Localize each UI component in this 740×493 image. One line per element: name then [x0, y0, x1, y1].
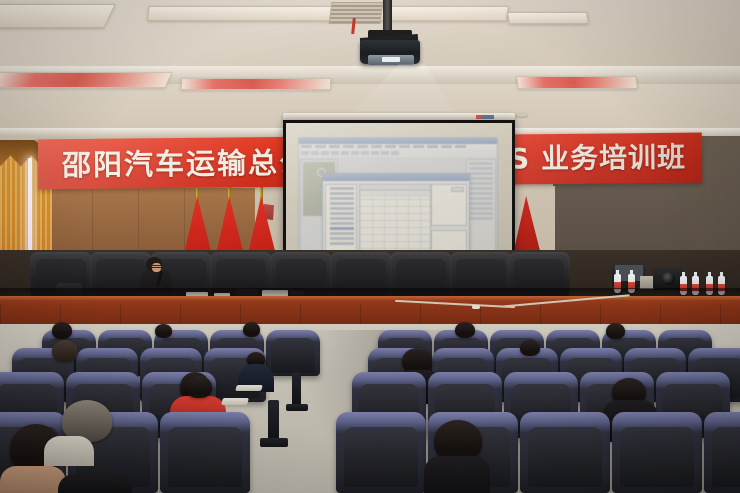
- dialog-titlebar: [323, 174, 469, 181]
- data-grid-header: [360, 185, 430, 191]
- projected-app-toolbar: [299, 150, 497, 157]
- attendee-head: [52, 322, 72, 339]
- smoke-detector-icon: [515, 112, 528, 117]
- dialog-data-grid: [359, 184, 431, 252]
- cable-knot: [472, 305, 480, 309]
- attendee-shoulders: [0, 466, 66, 493]
- ceiling-light-panel: [181, 78, 332, 90]
- glasses-icon: [151, 265, 162, 268]
- dialog-preview-upper: [431, 184, 467, 226]
- stage-desk-panels: [0, 304, 740, 324]
- auditorium-seat: [612, 412, 702, 493]
- camera-lens-icon: [662, 272, 675, 285]
- projector-badge: [382, 57, 400, 62]
- seat-leg: [292, 372, 301, 406]
- dialog-side-button: [451, 187, 464, 192]
- attendee-head: [520, 340, 540, 356]
- auditorium-scene: 邵阳汽车运输总公 PS 业务培训班: [0, 0, 740, 493]
- ceiling-light-panel: [147, 6, 509, 21]
- attendee-head: [186, 376, 212, 398]
- seat-leg: [268, 400, 279, 442]
- attendee-head: [606, 323, 625, 339]
- attendee-head: [155, 324, 172, 338]
- attendee-shoulders: [58, 474, 132, 493]
- ceiling-light-panel: [507, 12, 589, 24]
- data-grid-row: [360, 192, 430, 197]
- auditorium-seat: [704, 412, 740, 493]
- attendee-shoulders: [44, 436, 94, 466]
- ceiling-light-panel: [516, 76, 638, 89]
- stage-desk-edge: [0, 296, 740, 300]
- attendee-head: [52, 340, 78, 362]
- auditorium-seat: [266, 330, 320, 376]
- seat-leg: [286, 404, 308, 411]
- ceiling-light-panel: [0, 4, 116, 28]
- attendee-head: [455, 322, 475, 338]
- seat-leg: [260, 438, 288, 447]
- air-vent-icon: [328, 2, 383, 24]
- screen-brand-logo-icon: [476, 115, 494, 119]
- auditorium-seat: [160, 412, 250, 493]
- projector-mount-pole: [383, 0, 392, 34]
- ceiling-light-panel: [0, 72, 173, 88]
- auditorium-seat: [336, 412, 426, 493]
- auditorium-seat: [520, 412, 610, 493]
- seat-tablet-arm: [221, 398, 249, 405]
- attendee-head: [243, 322, 260, 337]
- attendee-shoulders: [424, 456, 490, 493]
- dialog-tree-view: [325, 184, 357, 252]
- seat-tablet-arm: [235, 385, 263, 391]
